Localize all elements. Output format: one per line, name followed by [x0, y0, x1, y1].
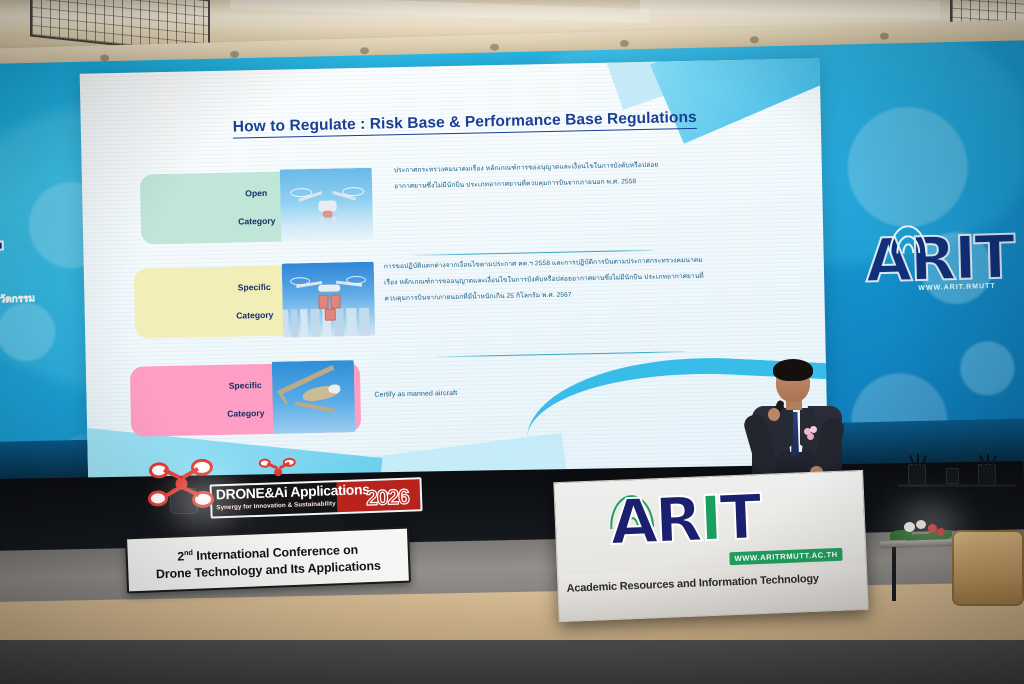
- hand: [768, 408, 780, 421]
- antenna-icon: [884, 219, 931, 254]
- logo-year: 2026: [366, 486, 410, 511]
- projection-screen: How to Regulate : Risk Base & Performanc…: [80, 58, 829, 493]
- delivery-drone-photo: [282, 262, 376, 338]
- conference-title-sign: 2nd International Conference on Drone Te…: [125, 527, 411, 594]
- arit-logo: ARIT WWW.ARITRMUTT.AC.TH: [575, 477, 854, 576]
- slide-decor-shape: [650, 58, 828, 143]
- section-divider: [436, 351, 686, 357]
- left-logo-subtitle: นวัตกรรม: [0, 290, 63, 307]
- ceiling-panel: [640, 0, 940, 19]
- quadcopter-drone-photo: [280, 168, 373, 242]
- left-logo-letters: T: [0, 234, 62, 293]
- arit-podium: ARIT WWW.ARITRMUTT.AC.TH Academic Resour…: [553, 470, 868, 622]
- arit-backdrop-logo: ARIT WWW.ARIT.RMUTT: [865, 226, 1024, 327]
- category-description-specific-yellow: การขอปฏิบัติแตกต่างจากเงื่อนไขตามประกาศ …: [384, 253, 715, 308]
- conference-photo-scene: T นวัตกรรม ARIT WWW.ARIT.RMUTT How to Re…: [0, 0, 1024, 684]
- drum-prop: [952, 530, 1024, 606]
- slide-title: How to Regulate : Risk Base & Performanc…: [233, 109, 697, 139]
- arit-logo-letters: ARIT: [609, 485, 761, 555]
- category-description-open: ประกาศกระทรวงคมนาคมเรื่อง หลักเกณฑ์การขอ…: [394, 158, 665, 196]
- left-partial-logo: T นวัตกรรม: [0, 234, 64, 325]
- drone-icon-small: [259, 458, 300, 491]
- light-glow: [160, 470, 250, 530]
- hair: [773, 359, 813, 381]
- light-glow: [890, 500, 970, 550]
- ceiling-panel: [230, 0, 650, 23]
- foreground-floor: [0, 640, 1024, 684]
- flower-corsage: [804, 426, 820, 442]
- fixed-wing-uav-photo: [272, 360, 355, 434]
